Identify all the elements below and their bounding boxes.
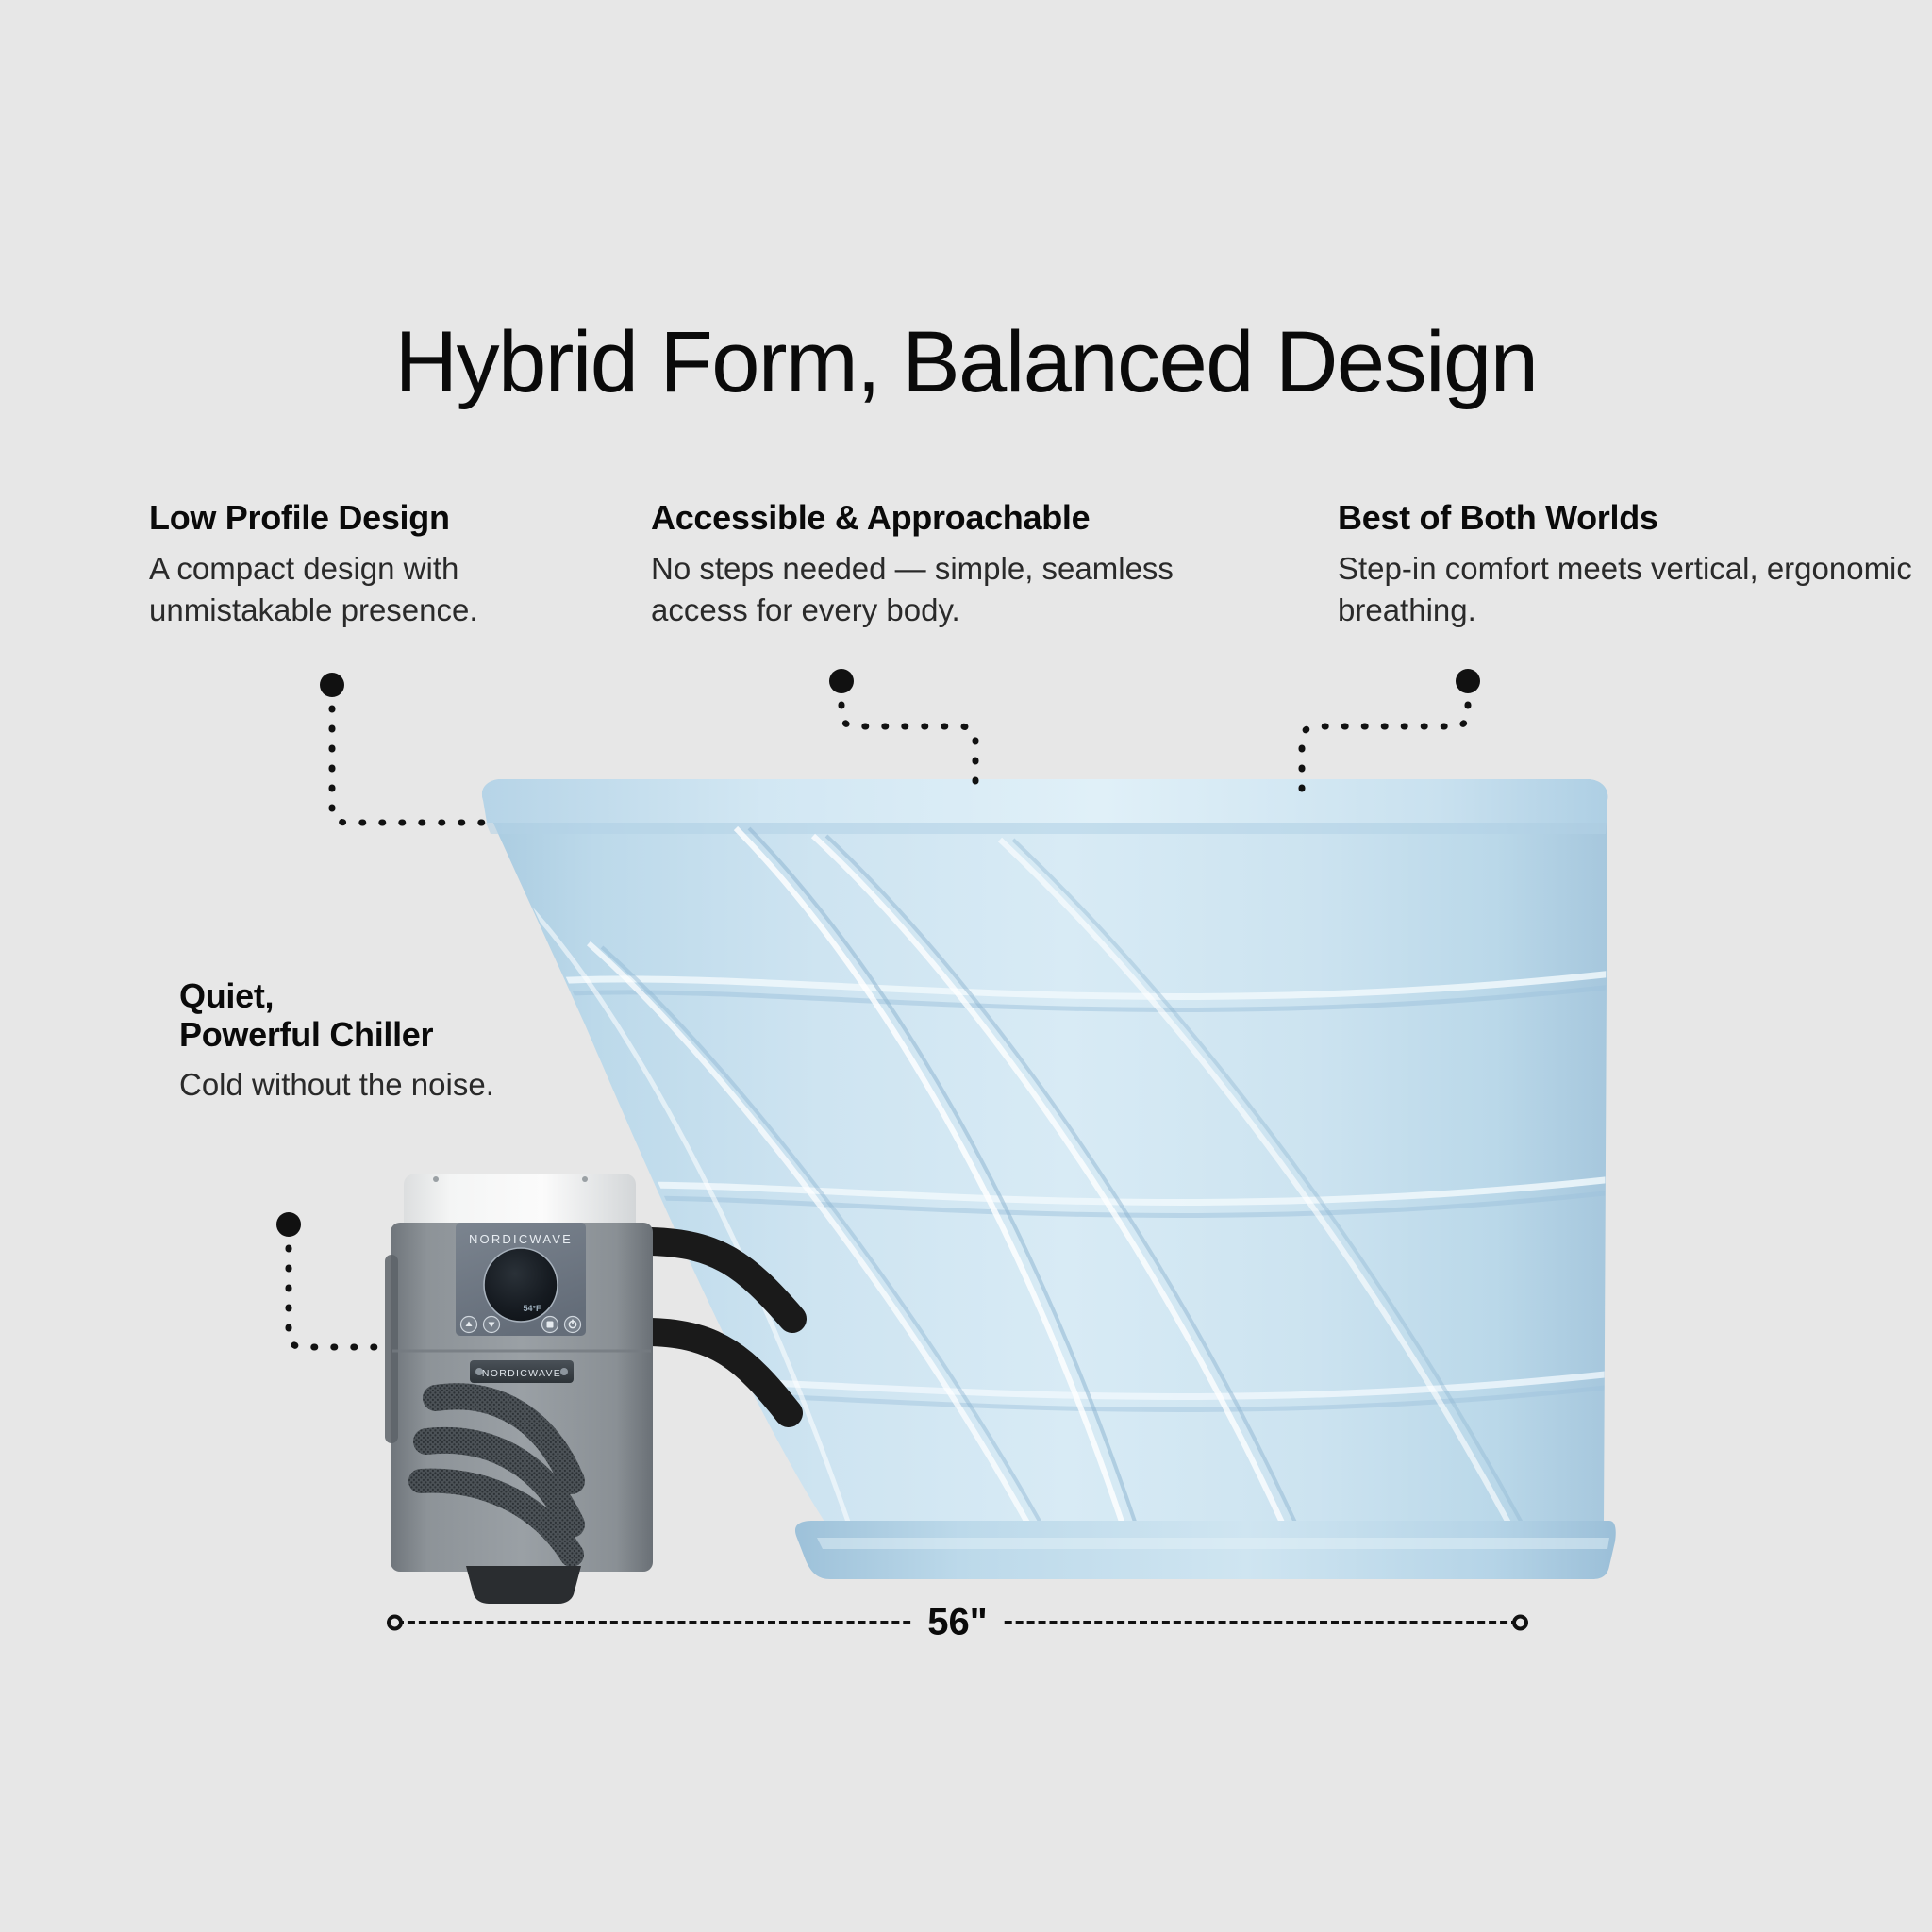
callout-accessible-body: No steps needed — simple, seamless acces… bbox=[651, 548, 1255, 631]
callout-both-worlds: Best of Both Worlds Step-in comfort meet… bbox=[1338, 498, 1932, 631]
chiller-foot bbox=[466, 1566, 581, 1604]
callout-accessible-heading: Accessible & Approachable bbox=[651, 498, 1255, 538]
callout-low-profile: Low Profile Design A compact design with… bbox=[149, 498, 592, 631]
callout-low-profile-heading: Low Profile Design bbox=[149, 498, 592, 538]
dimension-endpoint-right bbox=[1512, 1615, 1528, 1631]
chiller-top-cap bbox=[404, 1174, 636, 1226]
dimension-endpoint-left bbox=[387, 1615, 403, 1631]
chiller-brand-badge-label: NORDICWAVE bbox=[482, 1368, 561, 1379]
callout-both-worlds-body: Step-in comfort meets vertical, ergonomi… bbox=[1338, 548, 1932, 631]
dimension-line-width: 56" bbox=[387, 1604, 1528, 1641]
callout-both-worlds-heading: Best of Both Worlds bbox=[1338, 498, 1932, 538]
callout-chiller: Quiet,Powerful Chiller Cold without the … bbox=[179, 977, 557, 1106]
chiller-display-value: 54°F bbox=[523, 1304, 541, 1313]
tub-base-plinth bbox=[795, 1521, 1616, 1579]
callout-chiller-body: Cold without the noise. bbox=[179, 1064, 557, 1106]
dimension-label: 56" bbox=[910, 1602, 1004, 1644]
chiller-side-vent bbox=[385, 1255, 398, 1443]
callout-low-profile-body: A compact design with unmistakable prese… bbox=[149, 548, 592, 631]
callout-chiller-heading: Quiet,Powerful Chiller bbox=[179, 977, 557, 1054]
tub-rim-shade bbox=[486, 823, 1607, 834]
tub-rim bbox=[482, 779, 1607, 823]
callout-accessible: Accessible & Approachable No steps neede… bbox=[651, 498, 1255, 631]
power-button bbox=[565, 1317, 581, 1333]
chiller-unit: NORDICWAVE 54°F NORDICWAVE bbox=[385, 1174, 653, 1604]
chiller-brand-panel-label: NORDICWAVE bbox=[469, 1232, 573, 1246]
chiller-display-dial bbox=[484, 1248, 558, 1322]
